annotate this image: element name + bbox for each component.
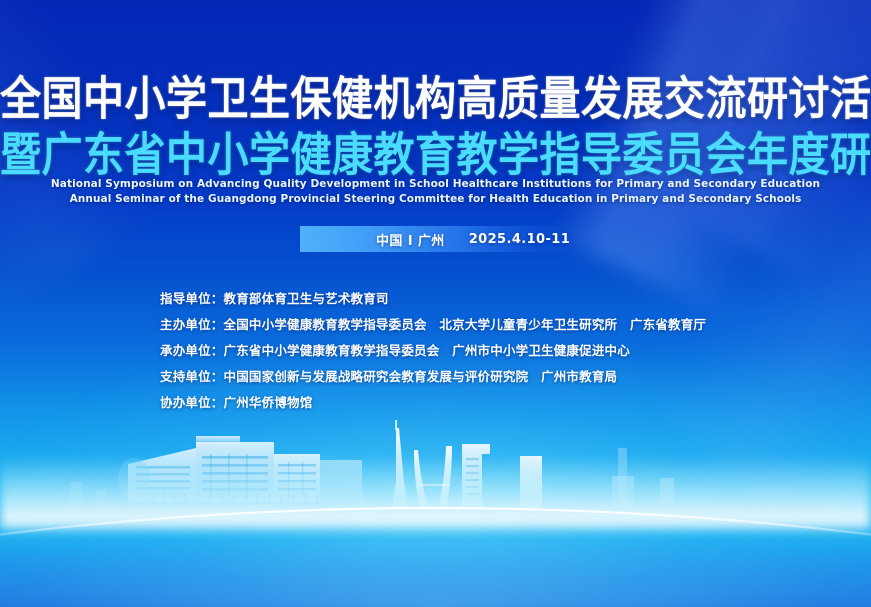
poster-title-secondary: 暨广东省中小学健康教育教学指导委员会年度研讨活动 <box>0 128 871 182</box>
organizer-row: 协办单位： 广州华侨博物馆 <box>160 390 820 416</box>
canton-tower-icon <box>392 420 408 508</box>
subtitle-english-line-1: National Symposium on Advancing Quality … <box>0 177 871 192</box>
organizer-value: 中国国家创新与发展战略研究会教育发展与评价研究院 广州市教育局 <box>224 364 618 390</box>
organizer-label: 主办单位： <box>160 312 224 338</box>
office-tower-icon <box>462 444 490 508</box>
poster-subtitle-english: National Symposium on Advancing Quality … <box>0 177 871 206</box>
conference-poster: 全国中小学卫生保健机构高质量发展交流研讨活动 暨广东省中小学健康教育教学指导委员… <box>0 0 871 607</box>
organizer-list: 指导单位： 教育部体育卫生与艺术教育司 主办单位： 全国中小学健康教育教学指导委… <box>160 286 820 416</box>
organizer-label: 协办单位： <box>160 390 224 416</box>
subtitle-english-line-2: Annual Seminar of the Guangdong Provinci… <box>0 192 871 207</box>
horizon-arc <box>0 477 871 607</box>
organizer-label: 承办单位： <box>160 338 224 364</box>
organizer-value: 教育部体育卫生与艺术教育司 <box>224 286 389 312</box>
organizer-label: 支持单位： <box>160 364 224 390</box>
organizer-row: 指导单位： 教育部体育卫生与艺术教育司 <box>160 286 820 312</box>
poster-title-primary: 全国中小学卫生保健机构高质量发展交流研讨活动 <box>0 72 871 126</box>
skyline-svg <box>0 420 871 530</box>
twin-spires-icon <box>414 446 452 508</box>
distant-towers-icon <box>612 448 674 508</box>
school-building-icon <box>118 436 362 504</box>
organizer-value: 广州华侨博物馆 <box>224 390 313 416</box>
badge-date: 2025.4.10-11 <box>469 232 570 247</box>
organizer-label: 指导单位： <box>160 286 224 312</box>
organizer-row: 支持单位： 中国国家创新与发展战略研究会教育发展与评价研究院 广州市教育局 <box>160 364 820 390</box>
skyline-graphic <box>0 420 871 530</box>
horizon-svg <box>0 477 871 607</box>
venue-date-badge: 中国 I 广州 2025.4.10-11 <box>300 226 572 252</box>
ground-haze <box>0 456 871 530</box>
poster-title-block: 全国中小学卫生保健机构高质量发展交流研讨活动 暨广东省中小学健康教育教学指导委员… <box>0 72 871 176</box>
organizer-value: 广东省中小学健康教育教学指导委员会 广州市中小学卫生健康促进中心 <box>224 338 630 364</box>
badge-content: 中国 I 广州 2025.4.10-11 <box>300 226 572 252</box>
mid-tower-icon <box>520 456 542 508</box>
left-faint-towers-icon <box>70 482 105 508</box>
organizer-row: 承办单位： 广东省中小学健康教育教学指导委员会 广州市中小学卫生健康促进中心 <box>160 338 820 364</box>
badge-location: 中国 I 广州 <box>376 230 445 249</box>
organizer-value: 全国中小学健康教育教学指导委员会 北京大学儿童青少年卫生研究所 广东省教育厅 <box>224 312 707 338</box>
organizer-row: 主办单位： 全国中小学健康教育教学指导委员会 北京大学儿童青少年卫生研究所 广东… <box>160 312 820 338</box>
